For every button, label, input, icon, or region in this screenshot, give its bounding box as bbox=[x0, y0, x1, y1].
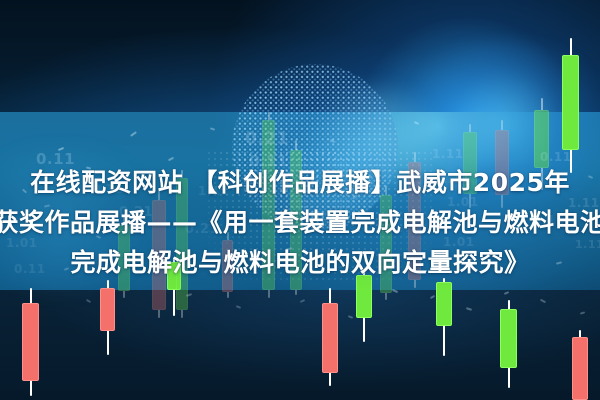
floating-number: 0.21 bbox=[245, 129, 289, 149]
banner-image: 0.110.210.110.211.11X.110.111.011.110.11… bbox=[0, 0, 600, 400]
headline-line-1: 在线配资网站 【科创作品展播】武威市2025年 bbox=[0, 163, 600, 203]
floating-number: 0.11 bbox=[540, 150, 572, 164]
floating-number: 1.11 bbox=[432, 147, 464, 161]
headline-line-3: 完成电解池与燃料电池的双向定量探究》 bbox=[0, 243, 600, 283]
banner-headline: 在线配资网站 【科创作品展播】武威市2025年 赛获奖作品展播——《用一套装置完… bbox=[0, 163, 600, 283]
headline-line-2: 赛获奖作品展播——《用一套装置完成电解池与燃料电池 bbox=[0, 203, 600, 243]
